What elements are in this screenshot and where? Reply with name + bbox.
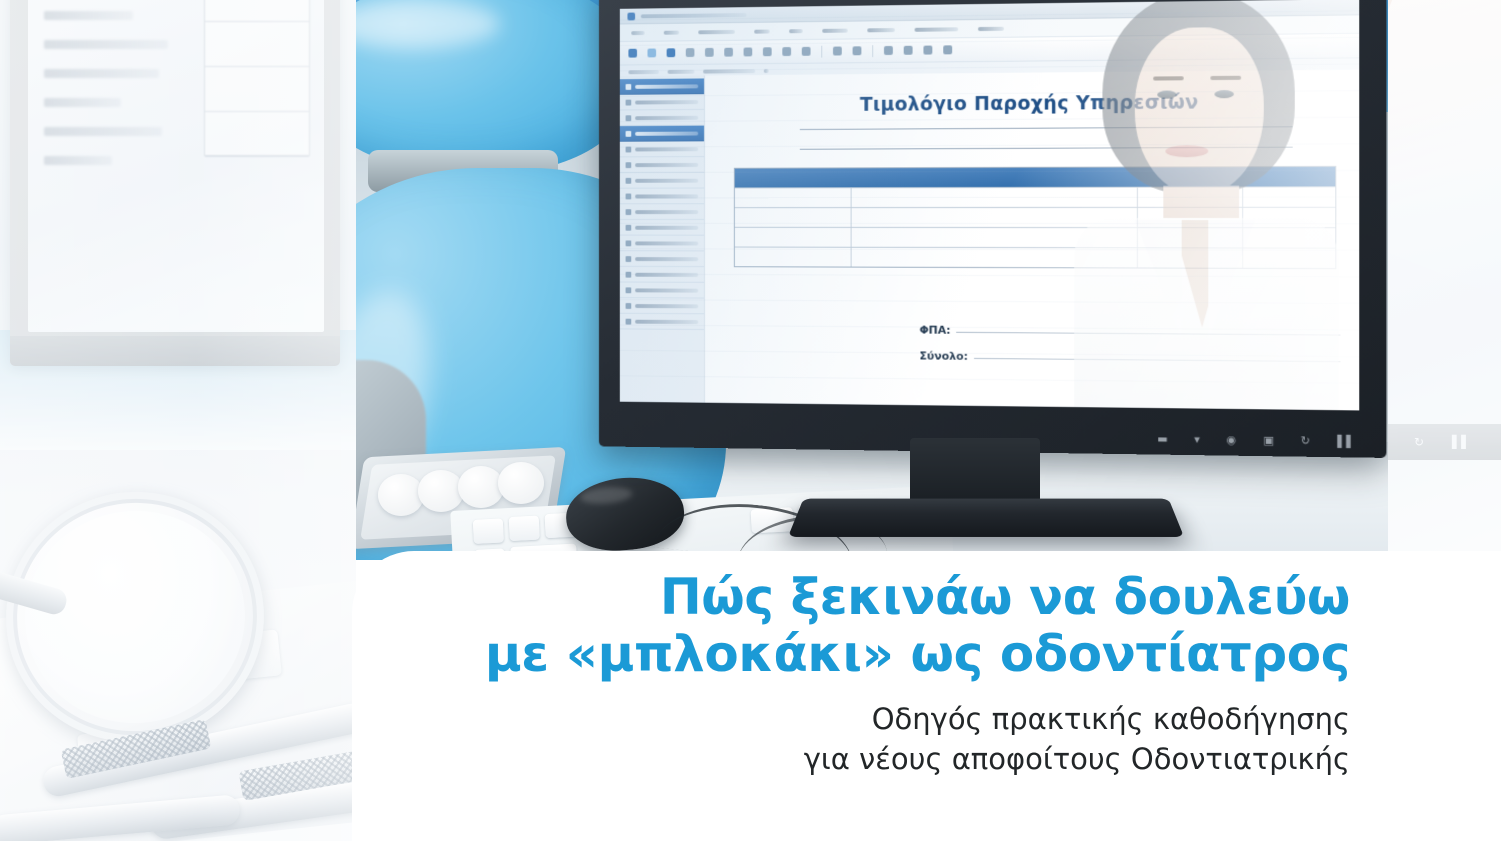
toolbar-divider [821,45,822,57]
sidebar-item-label [635,257,698,261]
table-row[interactable] [735,247,1335,269]
gear-icon [626,303,632,309]
table-cell[interactable] [1243,208,1335,227]
subtitle-line-1: Οδηγός πρακτικής καθοδήγησης [485,701,1350,739]
chevron-down-icon[interactable] [764,69,769,73]
sidebar-item-label [635,84,698,88]
sidebar-item-label [635,288,698,292]
sidebar-item-new-invoice[interactable] [620,94,704,110]
list-icon [626,146,632,152]
sidebar-item-label [635,241,698,245]
title-block: Πώς ξεκινάω να δουλεύω με «μπλοκάκι» ως … [485,569,1350,778]
settings-icon[interactable] [923,46,932,55]
menu-item[interactable] [867,28,895,32]
sidebar-item-11[interactable] [620,236,704,252]
table-header-row [735,167,1335,188]
list-icon [626,162,632,168]
table-row[interactable] [735,186,1335,207]
sidebar-item-label [635,225,698,229]
brightness-icon[interactable]: ▾ [1194,433,1200,446]
sidebar-item-12[interactable] [620,251,704,267]
open-folder-icon[interactable] [647,49,656,58]
invoicing-app: Τιμολόγιο Παροχής Υπηρεσιών [620,0,1359,410]
headline-line-2: με «μπλοκάκι» ως οδοντίατρος [485,626,1350,683]
sidebar-item-label [635,115,698,119]
right-panel-overlay [1388,0,1501,560]
sidebar-item-label [635,210,698,214]
sidebar-item-label [635,147,698,151]
sidebar-item-13[interactable] [620,267,704,283]
menu-item[interactable] [789,29,803,33]
sidebar-item-label [635,319,698,323]
sidebar-item-label [635,162,698,166]
help-icon [626,318,632,324]
cotton-roll [498,462,544,504]
table-cell[interactable] [852,248,1138,268]
table-cell[interactable] [1243,228,1335,247]
total-value-line[interactable] [974,358,1341,362]
cotton-roll [378,474,424,516]
table-cell[interactable] [1138,208,1243,227]
sidebar-item-invoices[interactable] [620,126,704,142]
list-icon [626,224,632,230]
breadcrumb-item[interactable] [703,69,755,73]
sidebar-item-8[interactable] [620,189,704,205]
table-cell[interactable] [735,248,852,267]
menu-item[interactable] [915,27,959,32]
table-cell[interactable] [735,228,852,247]
headline-line-1: Πώς ξεκινάω να δουλεύω [485,569,1350,626]
list-icon [626,240,632,246]
menu-icon[interactable]: ▣ [1263,434,1274,447]
monitor-bezel-controls[interactable]: ▬ ▾ ◉ ▣ ↻ ▌▌ [1157,432,1355,448]
cover-page: ↻ ▌▌ [0,0,1501,841]
list-icon [626,256,632,262]
table-cell[interactable] [1138,228,1243,247]
sidebar-item-label [635,194,698,198]
right-backdrop-panel: ↻ ▌▌ [1388,0,1501,560]
delete-icon[interactable] [833,47,842,56]
sidebar-item-6[interactable] [620,157,704,173]
hero-photo: Τιμολόγιο Παροχής Υπηρεσιών [356,0,1388,560]
redo-icon[interactable] [782,47,791,56]
chevron-down-icon[interactable] [943,45,952,54]
cut-icon[interactable] [744,47,753,56]
total-label: Σύνολο: [919,349,967,362]
table-cell[interactable] [852,228,1138,247]
export-icon[interactable] [904,46,913,55]
breadcrumb-item[interactable] [628,70,659,74]
camera-icon[interactable] [884,46,893,55]
breadcrumb-item[interactable] [668,70,695,74]
sidebar-item-label [635,178,698,182]
menu-item[interactable] [631,31,644,35]
plus-icon [626,99,632,105]
app-body: Τιμολόγιο Παροχής Υπηρεσιών [620,70,1359,411]
invoice-title: Τιμολόγιο Παροχής Υπηρεσιών [726,90,1340,116]
paste-icon[interactable] [724,48,733,57]
sidebar-item-14[interactable] [620,282,704,298]
table-cell[interactable] [1243,249,1335,269]
sidebar-item-10[interactable] [620,220,704,236]
table-row[interactable] [735,227,1335,248]
keyboard-key[interactable] [473,518,504,544]
invoice-field-line[interactable] [800,147,1293,150]
sidebar-item-dashboard[interactable] [620,78,704,94]
sidebar-item-9[interactable] [620,204,704,220]
vat-value-line[interactable] [957,332,1341,336]
save-icon[interactable] [667,48,676,57]
sidebar-item-5[interactable] [620,141,704,157]
sidebar-item-7[interactable] [620,173,704,189]
toolbar-divider [872,45,873,57]
display-icon[interactable]: ▬ [1157,432,1168,445]
sidebar-item-label [635,272,698,276]
total-row-sum: Σύνολο: [919,349,1340,366]
input-icon[interactable]: ◉ [1227,433,1237,446]
menu-item[interactable] [978,26,1004,30]
table-cell[interactable] [1138,188,1243,207]
table-cell[interactable] [1243,187,1335,206]
dental-chair-headrest [356,0,634,174]
app-window-title [641,13,747,18]
list-icon [626,177,632,183]
new-document-icon[interactable] [628,49,637,58]
cotton-roll [458,466,504,508]
vat-label: ΦΠΑ: [919,324,950,337]
window-icon[interactable] [853,46,862,55]
left-backdrop-panel [0,0,356,841]
invoice-icon [626,130,632,136]
invoice-totals: ΦΠΑ: Σύνολο: [919,324,1340,380]
left-panel-overlay [0,0,356,841]
sidebar-item-clients[interactable] [620,110,704,126]
menu-item[interactable] [664,30,679,34]
report-icon [626,287,632,293]
cotton-roll [418,470,464,512]
keyboard-key[interactable] [509,516,540,542]
undo-icon[interactable] [763,47,772,56]
monitor-base [788,499,1184,537]
sidebar-item-label [635,100,698,104]
table-cell[interactable] [1138,248,1243,268]
list-icon [626,209,632,215]
monitor-screen: Τιμολόγιο Παροχής Υπηρεσιών [620,0,1359,410]
dashboard-icon [626,84,632,90]
table-cell[interactable] [735,188,852,207]
menu-item[interactable] [822,28,847,32]
search-icon[interactable] [802,47,811,56]
subtitle-line-2: για νέους αποφοίτους Οδοντιατρικής [485,741,1350,779]
menu-item[interactable] [754,29,770,33]
print-icon[interactable] [686,48,695,57]
sidebar-item-label [635,131,698,135]
sidebar-item-15[interactable] [620,298,704,314]
users-icon [626,115,632,121]
list-icon [626,271,632,277]
monitor-neck [910,438,1040,504]
volume-icon[interactable]: ▌▌ [1337,435,1355,449]
table-cell[interactable] [852,208,1138,227]
table-cell[interactable] [735,208,852,227]
menu-item[interactable] [698,29,735,33]
invoice-line-items-table [734,166,1336,269]
table-row[interactable] [735,207,1335,227]
invoice-field-line[interactable] [800,126,1293,130]
title-panel: Πώς ξεκινάω να δουλεύω με «μπλοκάκι» ως … [352,551,1501,841]
sidebar-item-16[interactable] [620,314,704,330]
copy-icon[interactable] [705,48,714,57]
app-sidebar[interactable] [620,76,705,403]
list-icon [626,193,632,199]
table-cell[interactable] [852,188,1138,207]
monitor: Τιμολόγιο Παροχής Υπηρεσιών [599,0,1386,458]
invoice-document: Τιμολόγιο Παροχής Υπηρεσιών [705,70,1359,411]
power-cycle-icon[interactable]: ↻ [1301,434,1311,447]
app-logo-icon [627,12,635,20]
sidebar-item-label [635,304,698,308]
total-row-vat: ΦΠΑ: [919,324,1340,340]
